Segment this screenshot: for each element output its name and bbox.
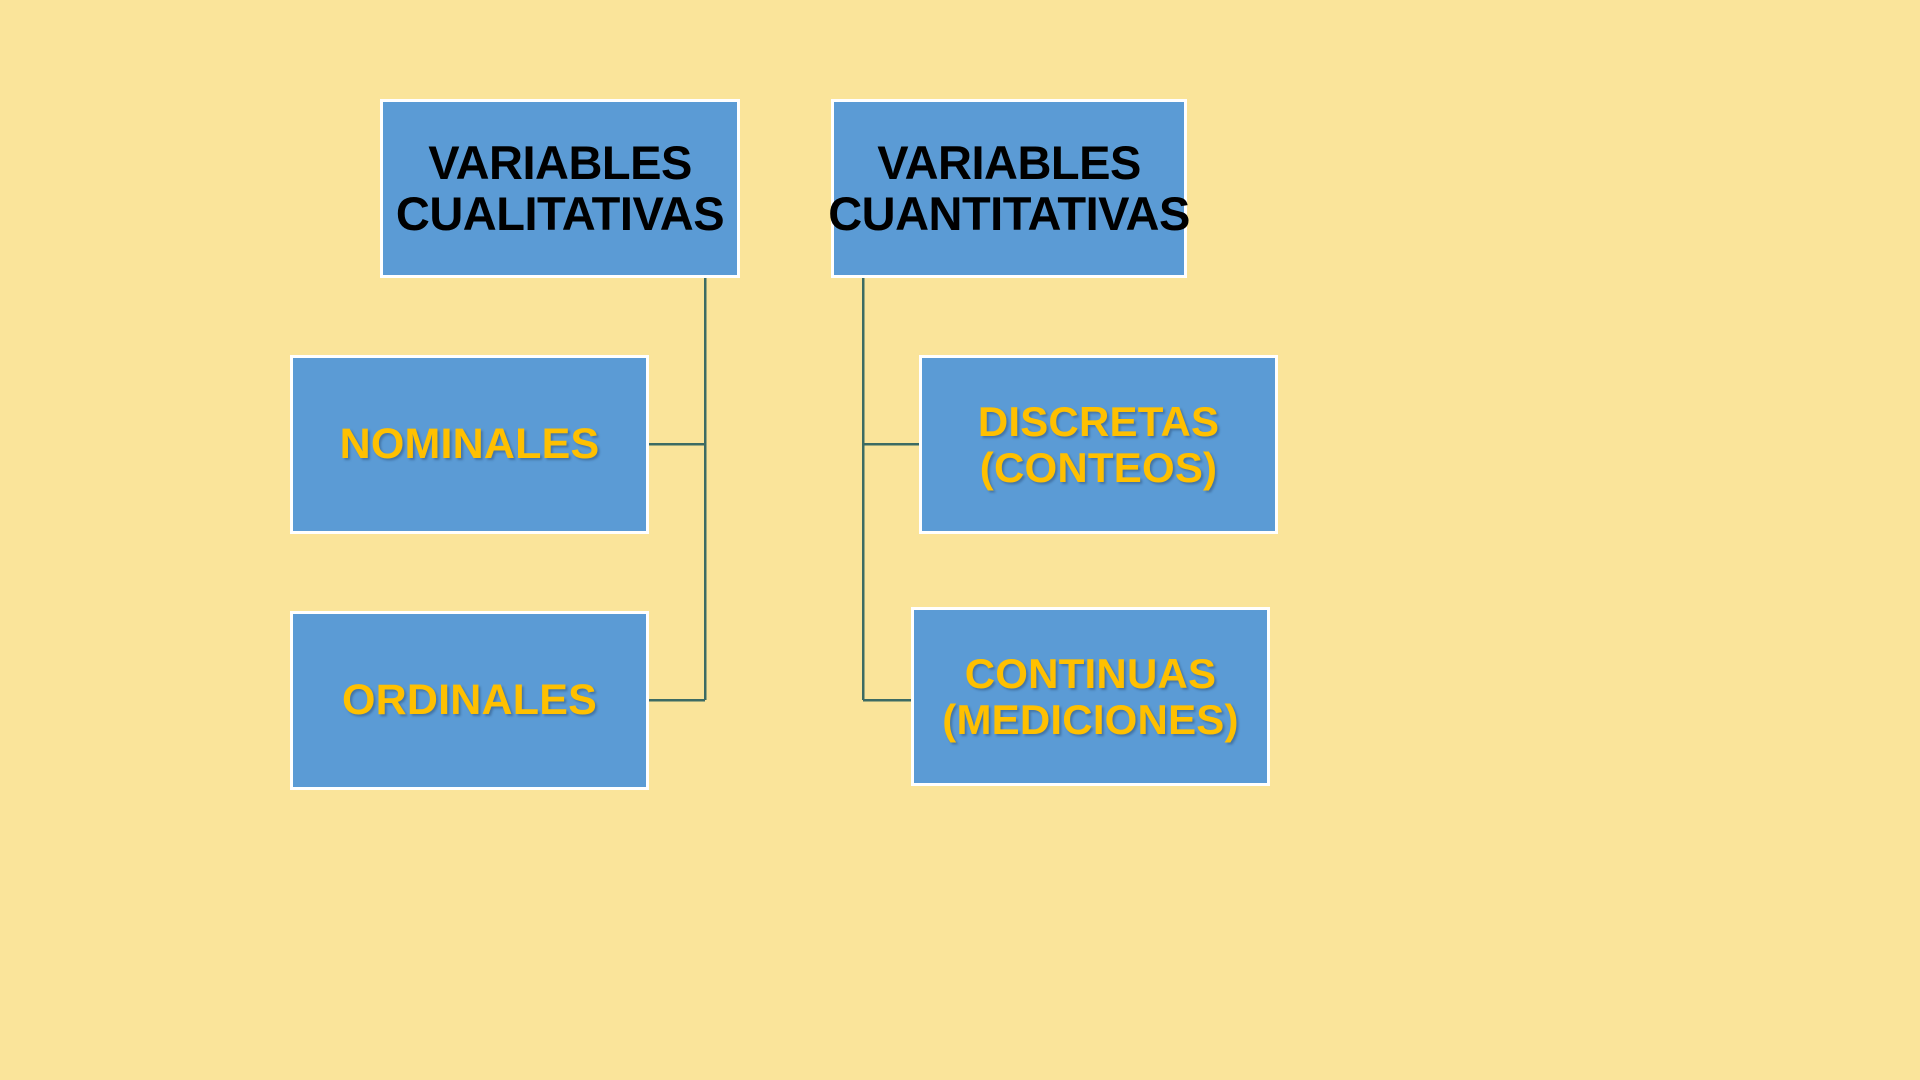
node-label: NOMINALES (334, 421, 606, 467)
node-label: ORDINALES (336, 677, 603, 723)
node-variables-cuantitativas: VARIABLES CUANTITATIVAS (831, 99, 1187, 278)
node-variables-cualitativas: VARIABLES CUALITATIVAS (380, 99, 740, 278)
node-continuas: CONTINUAS (MEDICIONES) (911, 607, 1270, 786)
node-label: DISCRETAS (CONTEOS) (972, 399, 1225, 490)
node-label: CONTINUAS (MEDICIONES) (936, 651, 1244, 742)
node-ordinales: ORDINALES (290, 611, 649, 790)
diagram-canvas: VARIABLES CUALITATIVAS VARIABLES CUANTIT… (0, 0, 1920, 1080)
node-nominales: NOMINALES (290, 355, 649, 534)
node-discretas: DISCRETAS (CONTEOS) (919, 355, 1278, 534)
node-label: VARIABLES CUALITATIVAS (390, 138, 730, 240)
node-label: VARIABLES CUANTITATIVAS (822, 138, 1196, 240)
